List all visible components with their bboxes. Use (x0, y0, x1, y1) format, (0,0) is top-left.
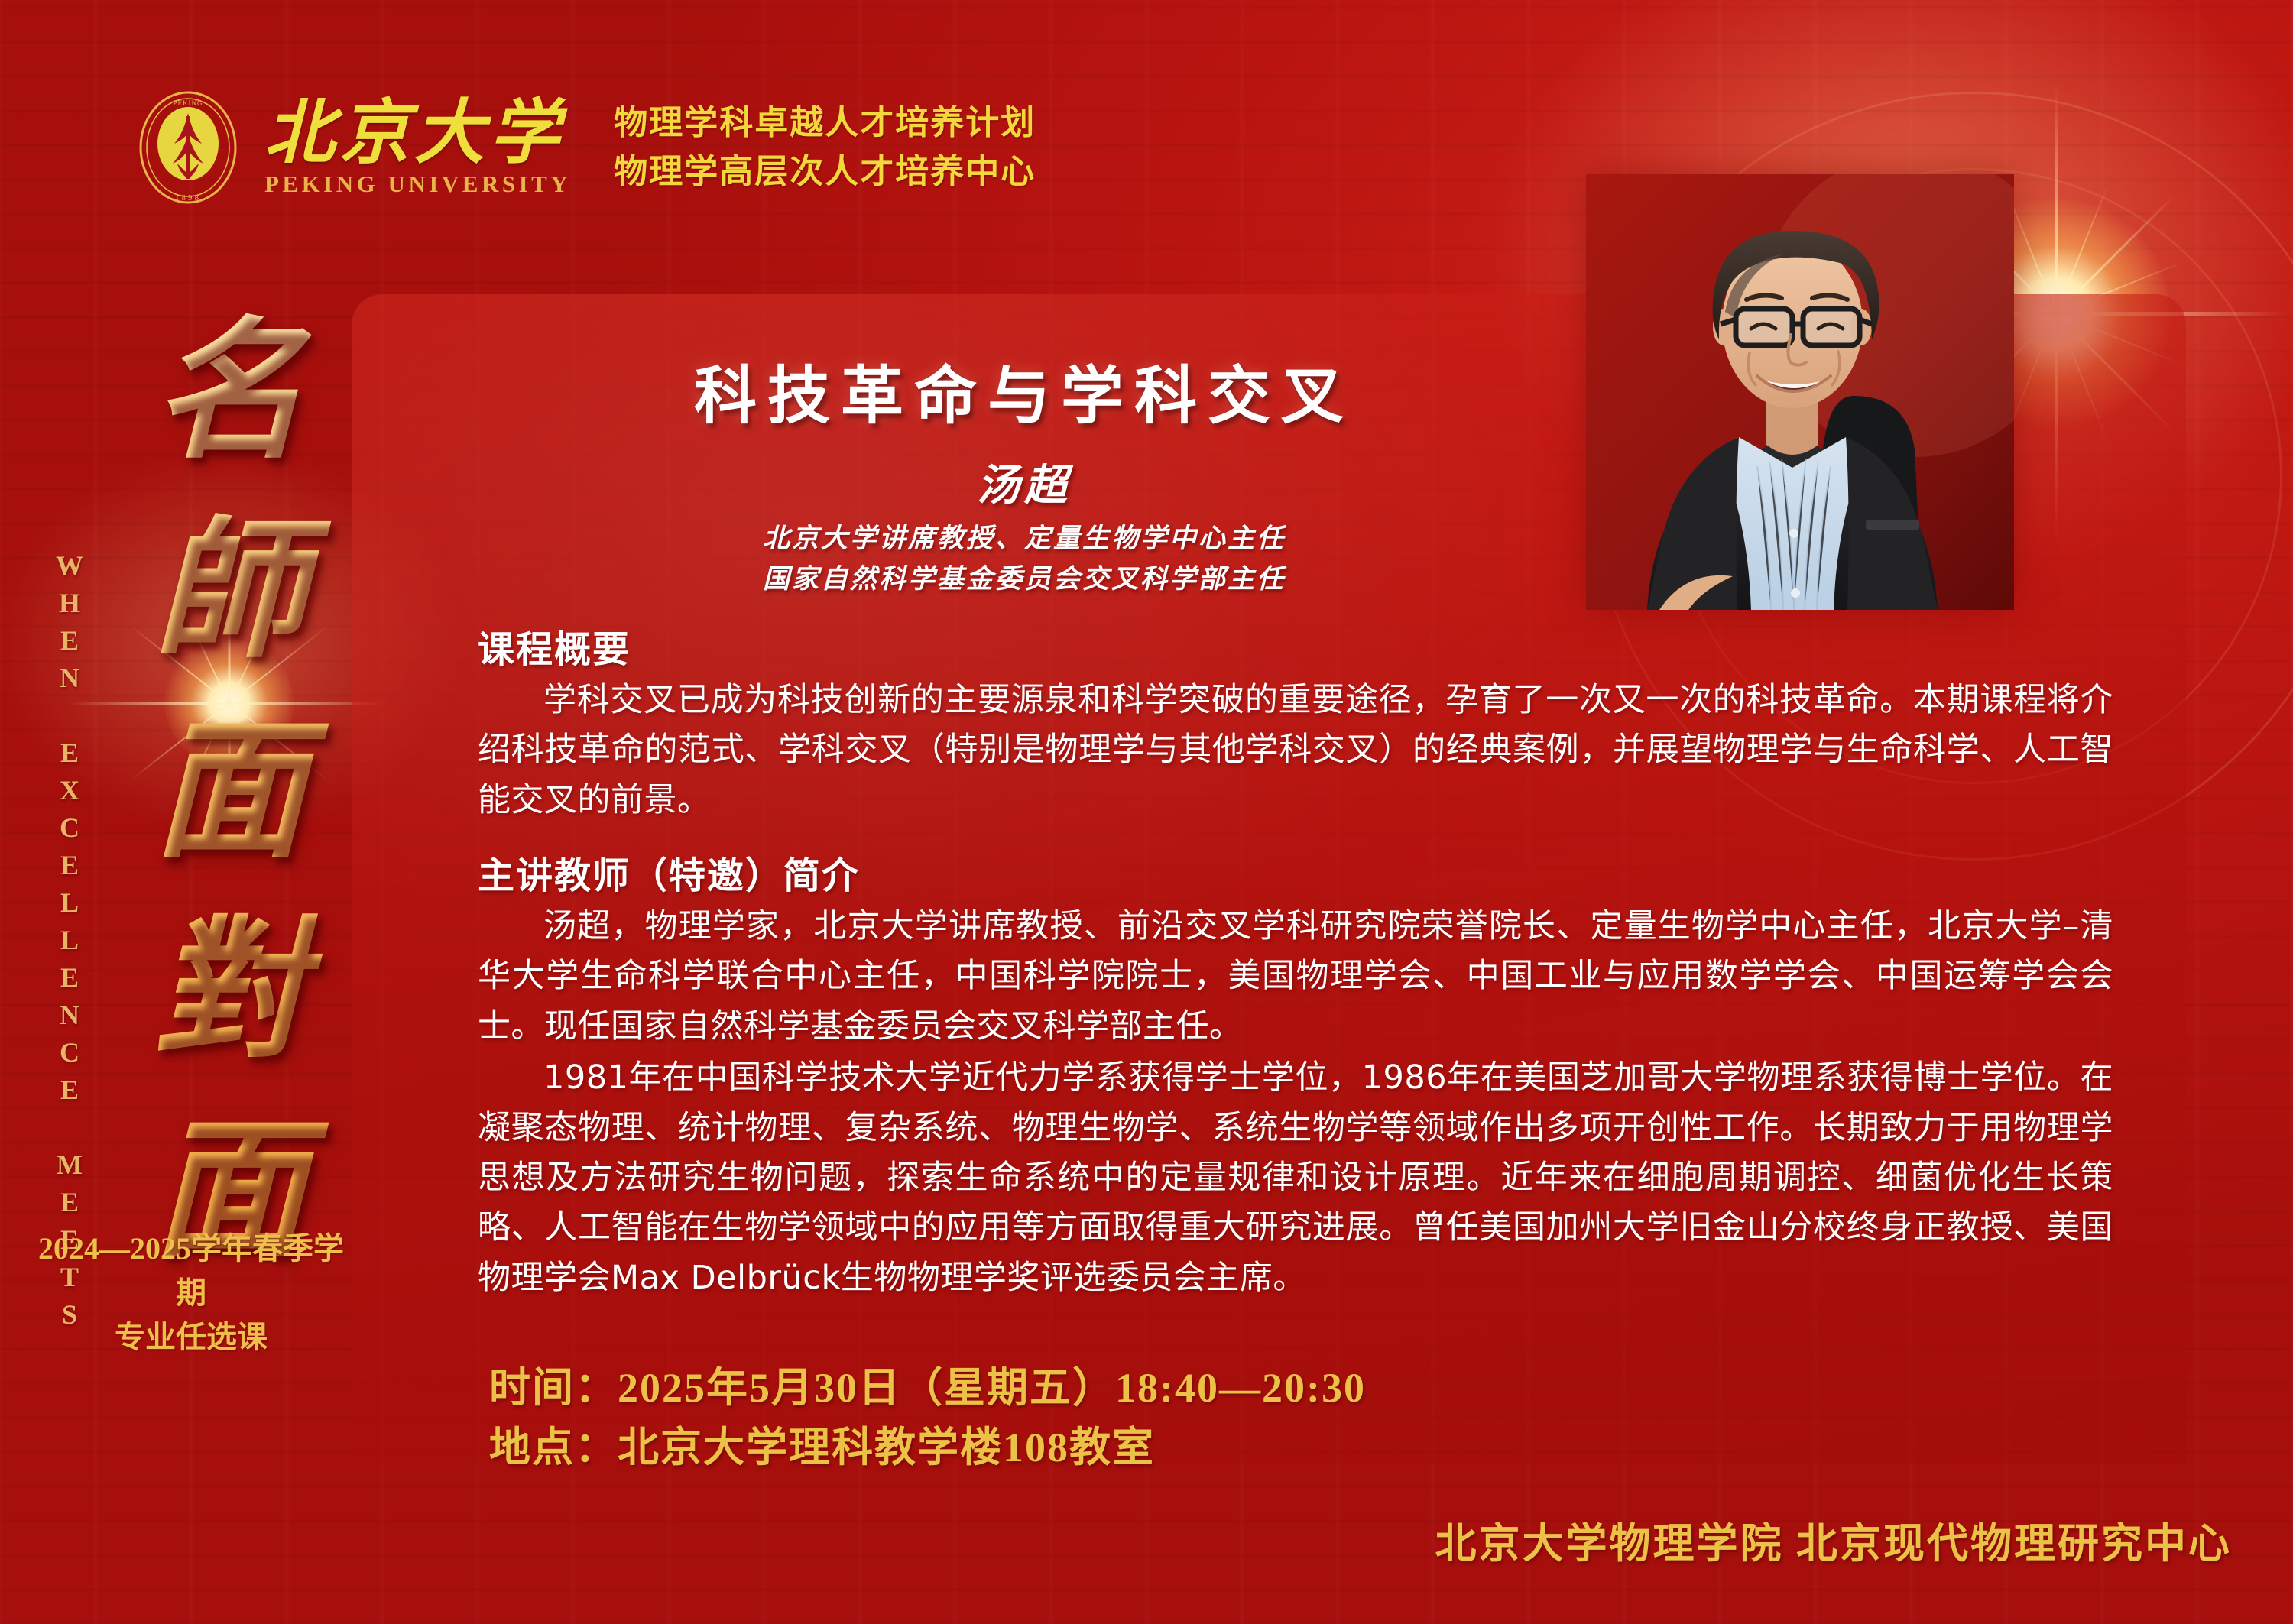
bio-heading: 主讲教师（特邀）简介 (478, 845, 2186, 899)
svg-text:PEKING: PEKING (174, 99, 203, 107)
header: PEKING 1898 北京大学 PEKING UNIVERSITY 物理学科卓… (138, 90, 1036, 205)
semester-line-1: 2024—2025学年春季学期 (31, 1227, 352, 1315)
semester-line-2: 专业任选课 (31, 1315, 352, 1360)
speaker-portrait (1586, 174, 2014, 610)
overview-text: 学科交叉已成为科技创新的主要源泉和科学突破的重要途径，孕育了一次又一次的科技革命… (478, 676, 2113, 825)
program-line-2: 物理学高层次人才培养中心 (614, 147, 1036, 196)
series-title-en: WHEN EXCELLENCE MEETS (54, 550, 86, 1337)
semester-info: 2024—2025学年春季学期 专业任选课 (31, 1227, 352, 1360)
series-title-cn: 名師面對面 (115, 290, 344, 1289)
program-subtitle: 物理学科卓越人才培养计划 物理学高层次人才培养中心 (614, 99, 1036, 196)
footer-organizers: 北京大学物理学院 北京现代物理研究中心 (1435, 1509, 2233, 1570)
peking-university-seal-icon: PEKING 1898 (138, 90, 238, 205)
svg-text:1898: 1898 (175, 193, 201, 203)
sidebar: 名師面對面 WHEN EXCELLENCE MEETS (0, 229, 359, 1376)
schedule-location: 地点：北京大学理科教学楼108教室 (489, 1418, 1366, 1478)
schedule-time: 时间：2025年5月30日（星期五）18:40—20:30 (489, 1359, 1366, 1418)
program-line-1: 物理学科卓越人才培养计划 (614, 99, 1036, 147)
poster-root: PEKING 1898 北京大学 PEKING UNIVERSITY 物理学科卓… (0, 0, 2293, 1624)
overview-heading: 课程概要 (478, 619, 2186, 673)
university-wordmark: 北京大学 PEKING UNIVERSITY (264, 97, 571, 198)
university-name-en: PEKING UNIVERSITY (264, 170, 571, 198)
university-name-cn: 北京大学 (264, 97, 571, 167)
bio-paragraph-1: 汤超，物理学家，北京大学讲席教授、前沿交叉学科研究院荣誉院长、定量生物学中心主任… (478, 902, 2113, 1052)
schedule-block: 时间：2025年5月30日（星期五）18:40—20:30 地点：北京大学理科教… (489, 1359, 1366, 1478)
bio-paragraph-2: 1981年在中国科学技术大学近代力学系获得学士学位，1986年在美国芝加哥大学物… (478, 1053, 2113, 1303)
